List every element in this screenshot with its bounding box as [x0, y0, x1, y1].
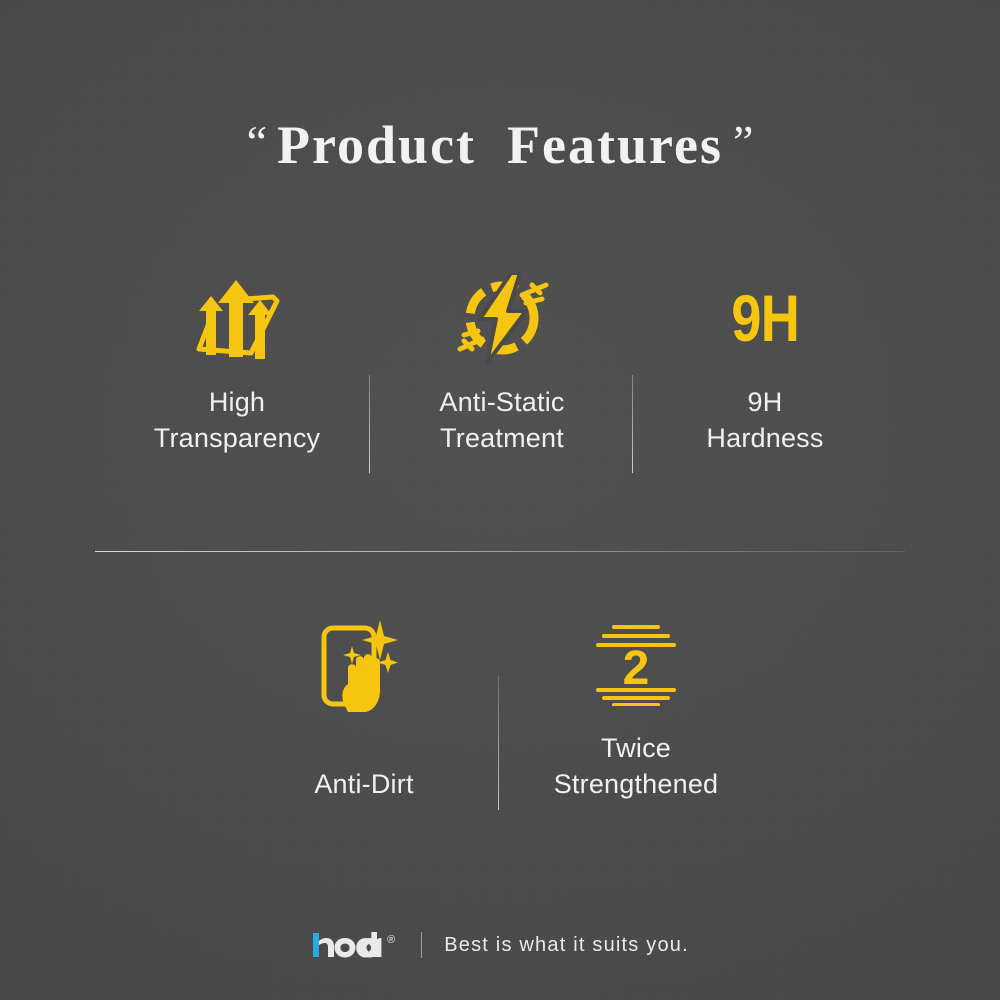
divider-vertical-top-right	[632, 375, 633, 473]
9h-hardness-text-icon: 9H	[724, 272, 806, 364]
footer-tagline: Best is what it suits you.	[444, 935, 689, 955]
feature-item-9h-hardness[interactable]: 9H 9H Hardness	[636, 272, 894, 456]
feature-item-high-transparency[interactable]: High Transparency	[106, 272, 368, 456]
quote-open-glyph: “	[247, 116, 267, 167]
hoda-wordmark-icon	[311, 932, 385, 958]
divider-vertical-top-left	[369, 375, 370, 473]
feature-item-anti-static[interactable]: Anti-Static Treatment	[368, 272, 636, 456]
two-layers-icon-text: 2	[623, 642, 650, 695]
footer-divider	[421, 932, 422, 958]
feature-row-bottom: Anti-Dirt 2 Twice Strengthened	[0, 618, 1000, 802]
feature-label-9h-hardness: 9H Hardness	[706, 384, 823, 456]
lightning-bolt-antistatic-icon	[454, 272, 550, 364]
feature-label-high-transparency: High Transparency	[154, 384, 320, 456]
page-title-container: “Product Features”	[0, 118, 1000, 172]
hoda-logo[interactable]: ®	[311, 932, 395, 958]
two-layers-strength-icon: 2	[588, 618, 684, 710]
quote-close-glyph: ”	[733, 116, 753, 167]
feature-label-twice-strengthened: Twice Strengthened	[554, 730, 719, 802]
page-title: “Product Features”	[247, 118, 754, 172]
hand-wiping-screen-sparkle-icon	[318, 618, 410, 710]
divider-vertical-bottom	[498, 676, 499, 810]
upward-arrows-transparency-icon	[185, 272, 289, 364]
product-features-infographic: “Product Features” High Transparency	[0, 0, 1000, 1000]
footer: ® Best is what it suits you.	[0, 932, 1000, 958]
9h-hardness-icon-text: 9H	[731, 285, 799, 351]
feature-label-anti-dirt: Anti-Dirt	[314, 766, 413, 802]
feature-row-top: High Transparency	[0, 272, 1000, 456]
feature-label-anti-static: Anti-Static Treatment	[439, 384, 564, 456]
page-title-text: Product Features	[277, 115, 723, 175]
feature-item-twice-strengthened[interactable]: 2 Twice Strengthened	[500, 618, 772, 802]
feature-item-anti-dirt[interactable]: Anti-Dirt	[228, 618, 500, 802]
divider-horizontal-main	[95, 551, 905, 552]
registered-trademark-symbol: ®	[387, 935, 395, 946]
